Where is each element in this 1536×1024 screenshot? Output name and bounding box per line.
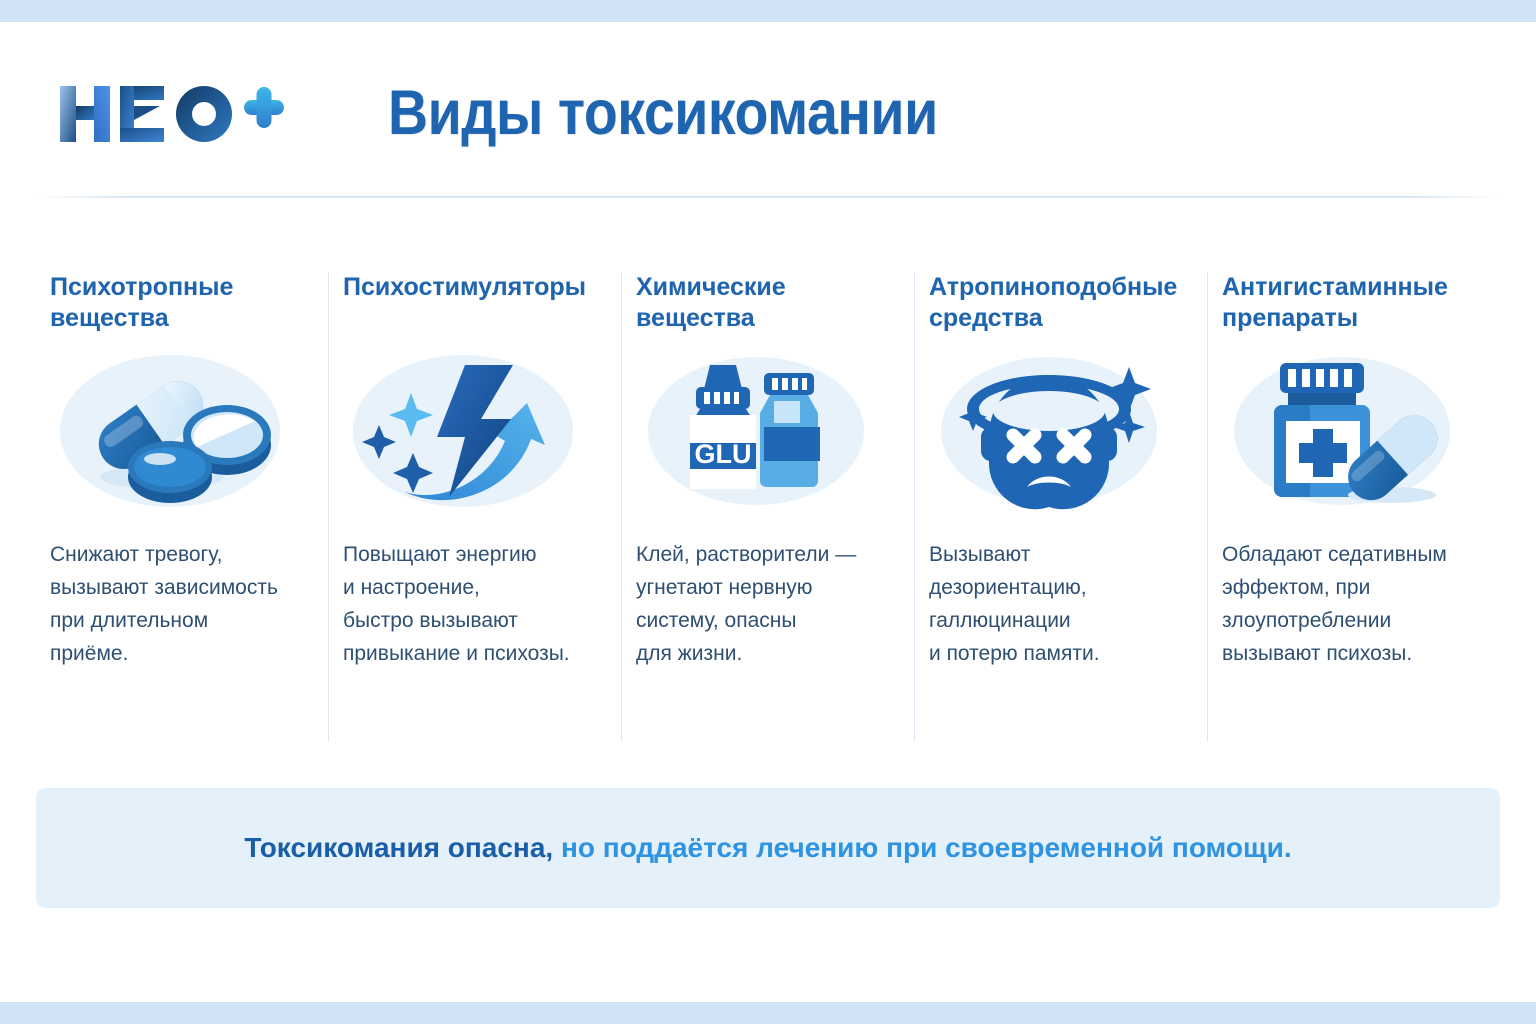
- header: Виды токсикомании: [0, 22, 1536, 188]
- banner-rest-text: но поддаётся лечению при своевременной п…: [553, 832, 1291, 863]
- category-columns: Психотропные вещества: [36, 272, 1500, 742]
- lightning-bolt-arrow-up-icon: [343, 344, 595, 524]
- column-description: Повыщают энергию и настроение, быстро вы…: [343, 538, 595, 670]
- column-atropine-like: Атропиноподобные средства: [914, 272, 1207, 742]
- glue-solvent-bottles-icon: GLU: [636, 344, 888, 524]
- column-title: Психостимуляторы: [343, 272, 595, 338]
- pills-capsule-tablets-icon: [50, 344, 302, 524]
- infographic-page: Виды токсикомании Психотропные вещества: [0, 0, 1536, 1024]
- bottom-accent-band: [0, 1002, 1536, 1024]
- column-description: Клей, растворители — угнетают нервную си…: [636, 538, 888, 670]
- glue-label: GLU: [695, 439, 752, 469]
- neo-plus-logo: [48, 70, 284, 142]
- footer-banner: Токсикомания опасна, но поддаётся лечени…: [36, 788, 1500, 908]
- column-title: Химические вещества: [636, 272, 888, 338]
- dizzy-face-icon: [929, 344, 1181, 524]
- column-psychostimulants: Психостимуляторы: [328, 272, 621, 742]
- column-description: Снижают тревогу, вызывают зависимость пр…: [50, 538, 302, 670]
- header-divider: [36, 196, 1500, 198]
- column-title: Психотропные вещества: [50, 272, 302, 338]
- pill-bottle-capsule-icon: [1222, 344, 1474, 524]
- column-antihistamines: Антигистаминные препараты: [1207, 272, 1500, 742]
- column-psychotropic: Психотропные вещества: [36, 272, 328, 742]
- column-description: Обладают седативным эффектом, при злоупо…: [1222, 538, 1474, 670]
- top-accent-band: [0, 0, 1536, 22]
- banner-text: Токсикомания опасна, но поддаётся лечени…: [244, 831, 1291, 865]
- column-description: Вызывают дезориентацию, галлюцинации и п…: [929, 538, 1181, 670]
- column-title: Антигистаминные препараты: [1222, 272, 1474, 338]
- banner-strong-text: Токсикомания опасна,: [244, 832, 553, 863]
- page-title: Виды токсикомании: [388, 78, 1268, 148]
- column-title: Атропиноподобные средства: [929, 272, 1181, 338]
- column-chemicals: Химические вещества: [621, 272, 914, 742]
